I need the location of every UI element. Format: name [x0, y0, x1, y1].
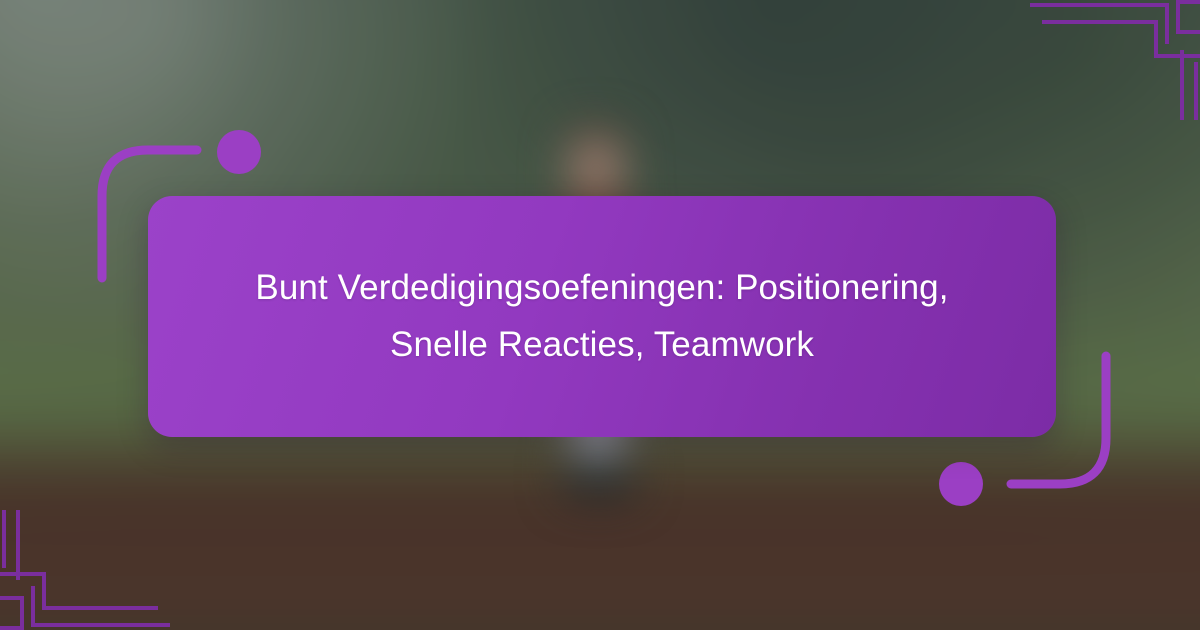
decor-dot-bottom-right-icon: [939, 462, 983, 506]
decor-dot-top-left-icon: [217, 130, 261, 174]
title-card: Bunt Verdedigingsoefeningen: Positioneri…: [148, 196, 1056, 437]
page-title: Bunt Verdedigingsoefeningen: Positioneri…: [207, 260, 997, 373]
og-image-canvas: Bunt Verdedigingsoefeningen: Positioneri…: [0, 0, 1200, 630]
